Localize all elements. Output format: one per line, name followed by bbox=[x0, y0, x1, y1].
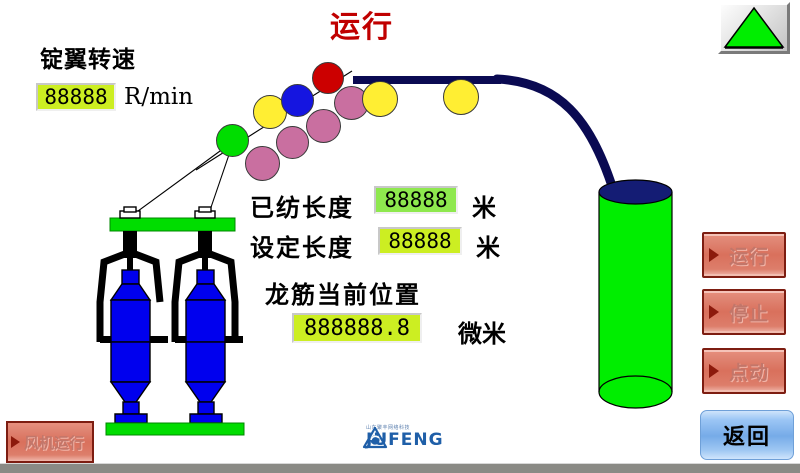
roller-yellow-2 bbox=[362, 81, 398, 117]
run-button-label: 运行 bbox=[719, 242, 769, 269]
play-arrow-icon bbox=[709, 364, 719, 378]
can-top-rim bbox=[599, 180, 672, 204]
jog-button[interactable]: 点动 bbox=[702, 348, 786, 394]
spindle-assembly bbox=[60, 190, 280, 440]
run-button[interactable]: 运行 bbox=[702, 232, 786, 278]
company-logo: 山东聚丰网络科技 JUFENG bbox=[362, 426, 444, 449]
roller-pink-3 bbox=[306, 109, 341, 143]
fan-run-button-label: 风机运行 bbox=[16, 432, 84, 453]
bottom-status-strip bbox=[0, 463, 800, 473]
jog-button-label: 点动 bbox=[719, 358, 769, 385]
back-button[interactable]: 返回 bbox=[700, 410, 794, 460]
roller-green bbox=[216, 124, 249, 157]
fan-run-button[interactable]: 风机运行 bbox=[6, 421, 94, 463]
hmi-screen: 运行 锭翼转速 88888 R/min 已纺长度 88888 米 设定长度 88… bbox=[0, 0, 800, 473]
roller-blue bbox=[281, 84, 314, 117]
fiber-can bbox=[570, 160, 710, 440]
stop-button[interactable]: 停止 bbox=[702, 289, 786, 335]
roller-pink-1 bbox=[245, 146, 280, 181]
roller-pink-2 bbox=[276, 126, 309, 159]
jufeng-mark-icon bbox=[362, 426, 388, 452]
play-arrow-icon bbox=[11, 436, 20, 448]
stop-button-label: 停止 bbox=[719, 299, 769, 326]
play-arrow-icon bbox=[709, 248, 719, 262]
play-arrow-icon bbox=[709, 305, 719, 319]
back-button-label: 返回 bbox=[723, 419, 771, 451]
roller-yellow-3 bbox=[443, 79, 479, 115]
